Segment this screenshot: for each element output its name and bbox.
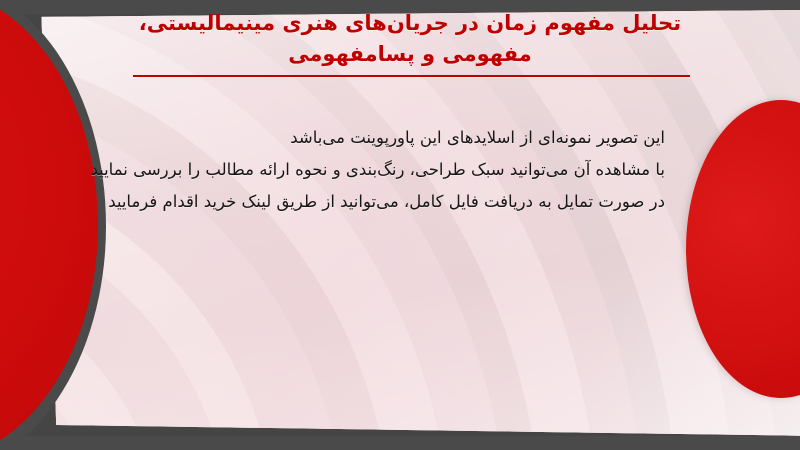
- body-line-2: با مشاهده آن می‌توانید سبک طراحی، رنگ‌بن…: [145, 154, 665, 186]
- slide-frame-bottom-band: [0, 436, 800, 450]
- title-line-1: تحلیل مفهوم زمان در جریان‌های هنری مینیم…: [120, 8, 700, 39]
- title-underline-rule: [133, 75, 690, 77]
- body-line-3: در صورت تمایل به دریافت فایل کامل، می‌تو…: [145, 186, 665, 218]
- slide-body-text: این تصویر نمونه‌ای از اسلایدهای این پاور…: [145, 122, 665, 218]
- body-line-1: این تصویر نمونه‌ای از اسلایدهای این پاور…: [145, 122, 665, 154]
- title-line-2: مفهومی و پسامفهومی: [120, 39, 700, 70]
- slide-title: تحلیل مفهوم زمان در جریان‌های هنری مینیم…: [120, 8, 700, 70]
- presentation-slide: تحلیل مفهوم زمان در جریان‌های هنری مینیم…: [0, 0, 800, 450]
